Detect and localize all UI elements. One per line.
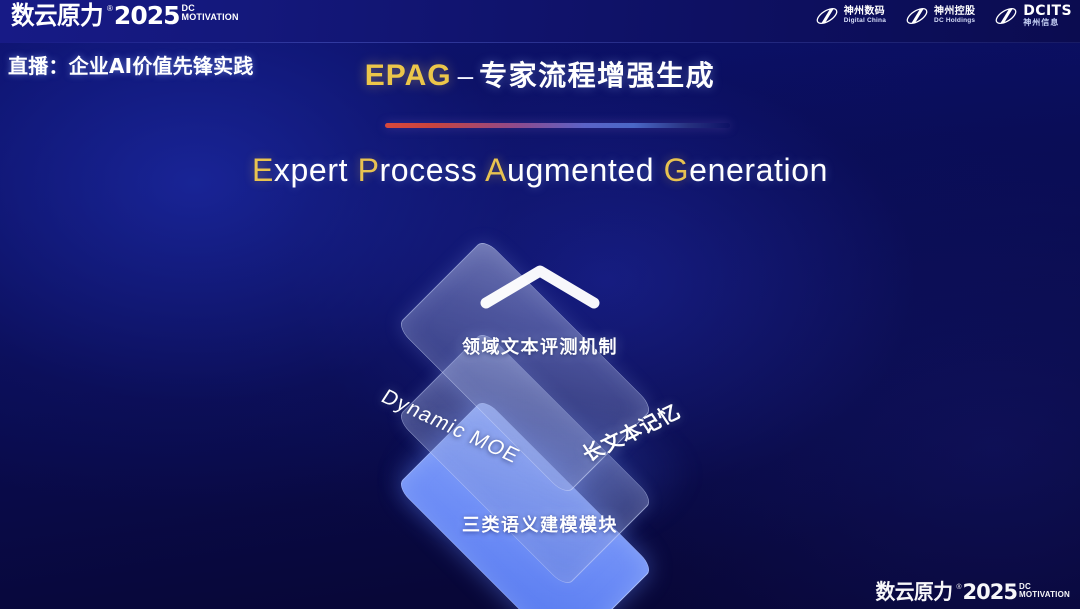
isometric-layer-diagram: 三类语义建模模块 Dynamic MOE 长文本记忆 领域文本评测机制: [300, 225, 780, 580]
brand-registered-mark: ®: [107, 5, 113, 13]
gradient-divider: [385, 123, 730, 128]
slide-subtitle: Expert Process Augmented Generation: [0, 152, 1080, 189]
live-stream-title: 直播：企业AI价值先锋实践: [8, 50, 254, 79]
subtitle-cap-e: E: [252, 152, 274, 188]
footer-brand-year: 2025: [963, 582, 1017, 603]
brand-name-cn: 数云原力: [11, 3, 103, 28]
swirl-logo-icon: [993, 4, 1019, 28]
subtitle-rest-process: rocess: [380, 152, 486, 188]
brand-year: 2025: [114, 3, 180, 28]
footer-brand-registered-mark: ®: [956, 584, 961, 591]
partner-name-en: 神州信息: [1023, 19, 1072, 27]
partner-logo-digital-china: 神州数码 Digital China: [814, 4, 886, 28]
slide-title-dash: –: [452, 60, 480, 91]
footer-watermark: 数云原力 ® 2025 DC MOTIVATION: [873, 582, 1070, 603]
slide-title-chinese: 专家流程增强生成: [479, 59, 715, 92]
footer-brand-dc-motivation: DC MOTIVATION: [1019, 582, 1070, 600]
partner-name-en: DC Holdings: [934, 18, 975, 25]
partner-name-en: Digital China: [844, 18, 886, 25]
brand-motivation-text: MOTIVATION: [182, 13, 239, 22]
partner-logo-text: DCITS 神州信息: [1023, 4, 1072, 27]
subtitle-cap-a: A: [485, 152, 507, 188]
partner-logo-group: 神州数码 Digital China 神州控股 DC Holdings DCIT…: [814, 4, 1072, 28]
subtitle-cap-g: G: [664, 152, 690, 188]
swirl-logo-icon: [904, 4, 930, 28]
partner-logo-dc-holdings: 神州控股 DC Holdings: [904, 4, 975, 28]
footer-brand-name-cn: 数云原力: [876, 582, 953, 603]
slide-title-acronym: EPAG: [365, 59, 452, 92]
footer-brand-motivation-text: MOTIVATION: [1019, 591, 1070, 599]
brand-dc-motivation: DC MOTIVATION: [182, 3, 239, 23]
subtitle-cap-p: P: [358, 152, 380, 188]
subtitle-rest-generation: eneration: [689, 152, 828, 188]
partner-logo-text: 神州数码 Digital China: [844, 7, 886, 24]
partner-logo-text: 神州控股 DC Holdings: [934, 7, 975, 24]
subtitle-rest-augmented: ugmented: [507, 152, 664, 188]
layer-label-top: 领域文本评测机制: [300, 333, 780, 359]
partner-name-cn: DCITS: [1023, 4, 1072, 19]
swirl-logo-icon: [814, 4, 840, 28]
layer-label-bottom: 三类语义建模模块: [300, 511, 780, 537]
brand-logo: 数云原力 ® 2025 DC MOTIVATION: [8, 3, 239, 28]
chevron-up-icon: [478, 261, 602, 311]
partner-logo-dcits: DCITS 神州信息: [993, 4, 1072, 28]
subtitle-rest-expert: xpert: [274, 152, 358, 188]
slide-canvas: 数云原力 ® 2025 DC MOTIVATION 神州数码 Digital C…: [0, 0, 1080, 609]
